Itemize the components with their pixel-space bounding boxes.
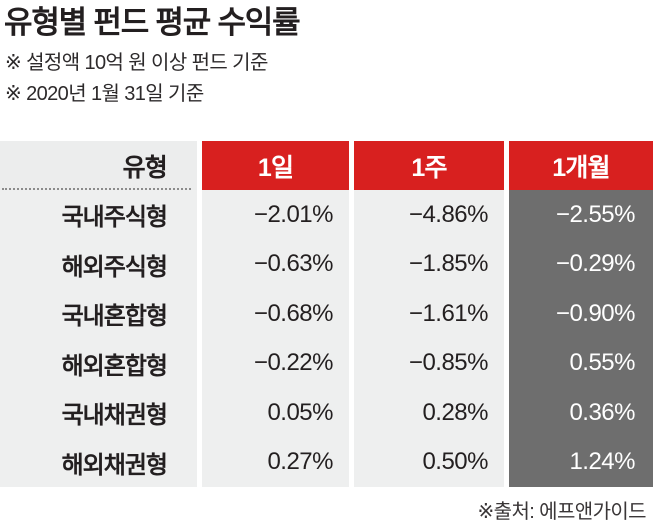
column-header-1day-label: 1일: [258, 148, 293, 184]
table-cell-value: −4.86%: [354, 190, 504, 240]
table-cell-value-highlighted: 0.36%: [509, 388, 653, 438]
fund-returns-table: 유형 국내주식형 해외주식형 국내혼합형 해외혼합형 국내채권형 해외채권형 1…: [0, 141, 654, 487]
table-column-1day: 1일 −2.01% −0.63% −0.68% −0.22% 0.05% 0.2…: [202, 141, 349, 487]
column-header-type-label: 유형: [123, 148, 167, 184]
note-line-criteria: ※ 설정액 10억 원 이상 펀드 기준: [0, 48, 654, 79]
column-header-1week-label: 1주: [411, 148, 446, 184]
table-row: 국내혼합형: [0, 289, 197, 339]
column-header-1week: 1주: [354, 141, 504, 190]
table-row: 국내채권형: [0, 388, 197, 438]
column-header-1month-label: 1개월: [552, 148, 610, 184]
table-row: 해외채권형: [0, 438, 197, 488]
table-column-1week: 1주 −4.86% −1.85% −1.61% −0.85% 0.28% 0.5…: [354, 141, 504, 487]
table-cell-value: −0.63%: [202, 240, 349, 290]
source-attribution: ※출처: 에프앤가이드: [478, 495, 646, 524]
table-cell-value-highlighted: −2.55%: [509, 190, 653, 240]
table-cell-value-highlighted: −0.90%: [509, 289, 653, 339]
table-cell-value-highlighted: 1.24%: [509, 438, 653, 488]
header-dotted-divider: [2, 188, 191, 190]
table-cell-value: 0.28%: [354, 388, 504, 438]
table-cell-value: −0.68%: [202, 289, 349, 339]
table-cell-value: −0.22%: [202, 339, 349, 389]
table-column-1week-cells: −4.86% −1.85% −1.61% −0.85% 0.28% 0.50%: [354, 190, 504, 487]
page-title: 유형별 펀드 평균 수익률: [0, 0, 654, 42]
table-column-type-cells: 국내주식형 해외주식형 국내혼합형 해외혼합형 국내채권형 해외채권형: [0, 190, 197, 487]
column-header-1month: 1개월: [509, 141, 653, 190]
table-cell-value-highlighted: 0.55%: [509, 339, 653, 389]
table-cell-value: 0.05%: [202, 388, 349, 438]
table-cell-value: −1.61%: [354, 289, 504, 339]
table-row: 해외혼합형: [0, 339, 197, 389]
table-column-type: 유형 국내주식형 해외주식형 국내혼합형 해외혼합형 국내채권형 해외채권형: [0, 141, 197, 487]
table-cell-value: −0.85%: [354, 339, 504, 389]
table-column-1month: 1개월 −2.55% −0.29% −0.90% 0.55% 0.36% 1.2…: [509, 141, 653, 487]
note-line-date: ※ 2020년 1월 31일 기준: [0, 79, 654, 110]
column-header-1day: 1일: [202, 141, 349, 190]
table-cell-value: −1.85%: [354, 240, 504, 290]
table-cell-value: −2.01%: [202, 190, 349, 240]
table-row: 국내주식형: [0, 190, 197, 240]
header-block: 유형별 펀드 평균 수익률 ※ 설정액 10억 원 이상 펀드 기준 ※ 202…: [0, 0, 654, 110]
table-cell-value: 0.50%: [354, 438, 504, 488]
table-cell-value: 0.27%: [202, 438, 349, 488]
table-row: 해외주식형: [0, 240, 197, 290]
column-header-type: 유형: [0, 141, 197, 190]
table-cell-value-highlighted: −0.29%: [509, 240, 653, 290]
table-column-1day-cells: −2.01% −0.63% −0.68% −0.22% 0.05% 0.27%: [202, 190, 349, 487]
table-column-1month-cells: −2.55% −0.29% −0.90% 0.55% 0.36% 1.24%: [509, 190, 653, 487]
